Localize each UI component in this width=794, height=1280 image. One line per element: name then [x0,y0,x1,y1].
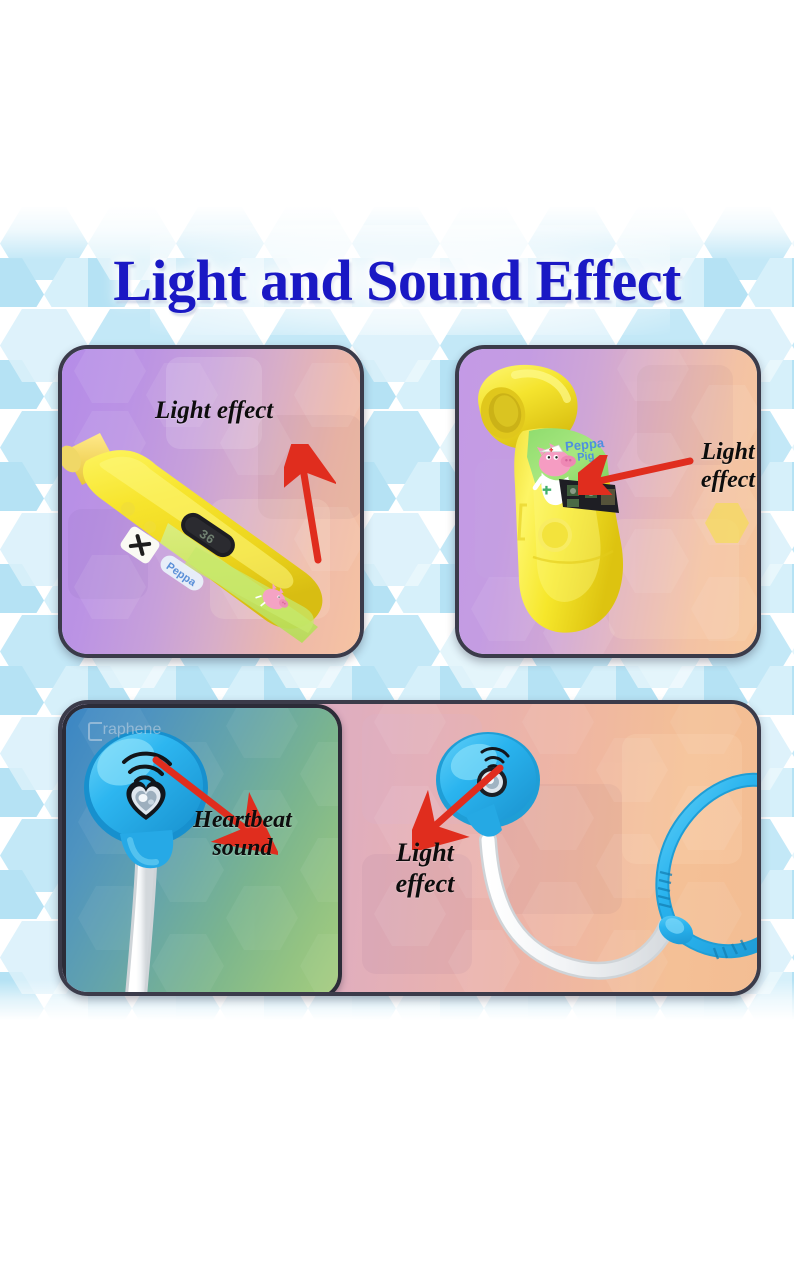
yellow-hex-accent [705,501,749,545]
callout-line-2: effect [370,869,480,900]
arrow-to-chest-piece-light [412,760,512,850]
toy-otoscope: Peppa Pig [463,361,663,649]
callout-line-2: effect [680,466,776,494]
callout-light-effect-thermometer: Light effect [155,396,273,426]
callout-heartbeat-sound: Heartbeat sound [170,806,315,863]
callout-line-1: Light [680,438,776,466]
callout-line-1: Heartbeat [170,806,315,834]
panel-otoscope: Peppa Pig raphene [455,345,761,658]
arrow-to-lcd-display [284,444,336,564]
page-title: Light and Sound Effect [0,252,794,310]
callout-line-1: Light [370,838,480,869]
callout-line-2: sound [170,834,315,862]
callout-light-effect-stethoscope: Light effect [370,838,480,899]
panel-thermometer: Peppa 36 raphene [58,345,364,658]
callout-light-effect-otoscope: Light effect [680,438,776,495]
arrow-to-light-module [578,455,696,495]
